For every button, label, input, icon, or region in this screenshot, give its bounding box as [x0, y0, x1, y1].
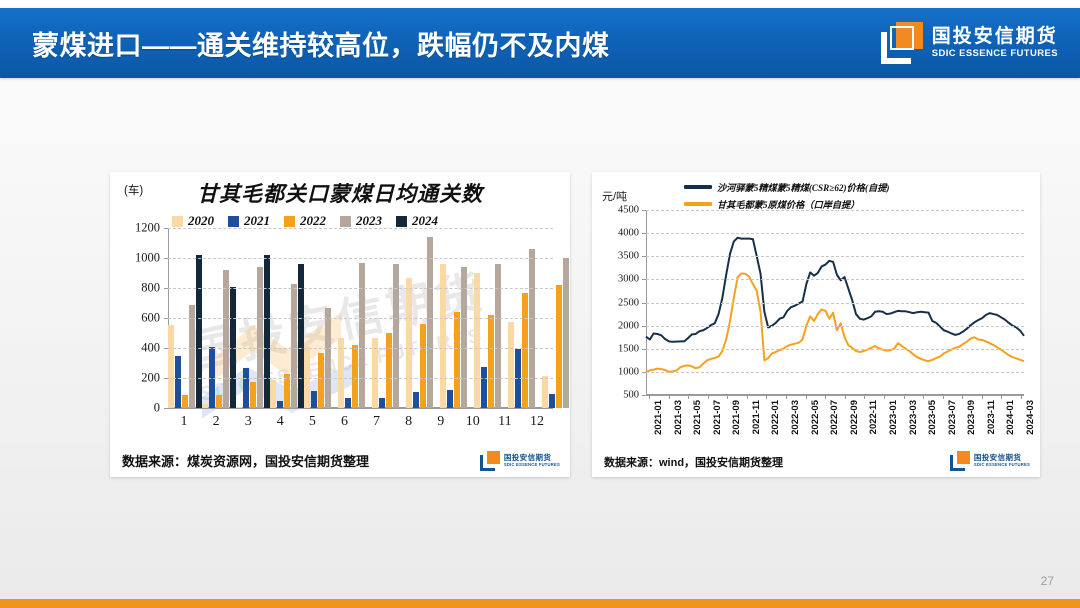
gridline [168, 288, 553, 289]
slide-header: 蒙煤进口——通关维持较高位，跌幅仍不及内煤 国投安信期货 SDIC ESSENC… [0, 8, 1080, 78]
legend-swatch-icon [284, 216, 295, 227]
x-axis-tick: 2022-11 [868, 400, 879, 434]
legend-swatch-icon [172, 216, 183, 227]
page-title: 蒙煤进口——通关维持较高位，跌幅仍不及内煤 [32, 24, 610, 63]
mini-logo-en: SDIC ESSENCE FUTURES [504, 463, 560, 467]
legend-item-2021[interactable]: 2021 [228, 213, 270, 229]
gridline [168, 258, 553, 259]
bar-2021-9 [447, 390, 453, 408]
bar-2022-9 [454, 312, 460, 408]
bar-2022-11 [522, 293, 528, 408]
legend-swatch-icon [228, 216, 239, 227]
legend-label: 2020 [188, 213, 214, 229]
y-axis-tickmark [642, 210, 646, 211]
x-axis-tick: 2024-03 [1025, 400, 1036, 435]
bar-2020-12 [542, 376, 548, 408]
bar-2023-1 [189, 305, 195, 409]
y-axis-tick: 1000 [135, 251, 160, 266]
legend-label: 2024 [412, 213, 438, 229]
y-axis-tickmark [642, 279, 646, 280]
x-axis-tickmark [982, 395, 983, 399]
logo-text-cn: 国投安信期货 [932, 27, 1058, 46]
x-axis-tickmark [649, 395, 650, 399]
y-axis-tickmark [642, 395, 646, 396]
gridline [646, 256, 1024, 257]
legend-item-2020[interactable]: 2020 [172, 213, 214, 229]
gridline [168, 228, 553, 229]
legend-label: 2022 [300, 213, 326, 229]
bar-2020-10 [474, 273, 480, 408]
x-axis-tick: 2023-07 [947, 400, 958, 435]
mini-logo-cn: 国投安信期货 [504, 454, 560, 462]
y-axis-tickmark [642, 326, 646, 327]
x-axis-tickmark [923, 395, 924, 399]
company-logo: 国投安信期货 SDIC ESSENCE FUTURES [881, 22, 1058, 64]
x-axis-tickmark [943, 395, 944, 399]
bar-2021-12 [549, 394, 555, 408]
x-axis-tickmark [727, 395, 728, 399]
legend-label: 甘其毛都蒙5原煤价格（口岸自提） [717, 197, 859, 211]
x-axis-tick: 2021-05 [692, 400, 703, 435]
y-axis-tickmark [164, 378, 168, 379]
x-axis-tickmark [708, 395, 709, 399]
bar-2020-11 [508, 322, 514, 408]
left-chart-legend: 20202021202220232024 [172, 213, 438, 229]
bar-2023-4 [291, 284, 297, 409]
y-axis-tick: 1000 [618, 366, 639, 377]
y-axis-tickmark [164, 318, 168, 319]
bar-2022-12 [556, 285, 562, 408]
legend-item-甘其毛都蒙5原煤价格（口岸自提）[interactable]: 甘其毛都蒙5原煤价格（口岸自提） [684, 197, 859, 211]
x-axis-tick: 2023-01 [888, 400, 899, 435]
legend-item-2022[interactable]: 2022 [284, 213, 326, 229]
y-axis-tickmark [164, 258, 168, 259]
y-axis-tick: 4500 [618, 205, 639, 216]
x-axis-tickmark [825, 395, 826, 399]
y-axis-tickmark [164, 288, 168, 289]
right-chart-logo: 国投安信期货 SDIC ESSENCE FUTURES [950, 451, 1030, 471]
x-axis-tick: 8 [405, 414, 412, 430]
y-axis-tickmark [642, 349, 646, 350]
x-axis-tick: 1 [181, 414, 188, 430]
x-axis-tick: 11 [498, 414, 511, 430]
bar-2020-8 [406, 278, 412, 409]
y-axis-tick: 1200 [135, 221, 160, 236]
x-axis-tick: 12 [530, 414, 544, 430]
slide-background: 蒙煤进口——通关维持较高位，跌幅仍不及内煤 国投安信期货 SDIC ESSENC… [0, 0, 1080, 608]
bar-2021-4 [277, 401, 283, 408]
y-axis-tick: 200 [141, 371, 160, 386]
bar-2020-1 [168, 325, 174, 408]
x-axis-tick: 4 [277, 414, 284, 430]
right-chart-legend: 沙河驿蒙5精煤蒙5精煤(CSR≥62)价格(自提)甘其毛都蒙5原煤价格（口岸自提… [684, 180, 889, 211]
bar-2021-5 [311, 391, 317, 408]
left-chart-title: 甘其毛都关口蒙煤日均通关数 [110, 178, 570, 208]
y-axis-tick: 4000 [618, 228, 639, 239]
x-axis-tick: 2021-09 [731, 400, 742, 435]
y-axis-tick: 1500 [618, 343, 639, 354]
gridline [646, 303, 1024, 304]
bar-2023-10 [495, 264, 501, 408]
y-axis-tickmark [164, 228, 168, 229]
x-axis-tick: 7 [373, 414, 380, 430]
bar-2022-10 [488, 315, 494, 408]
x-axis-tick: 2022-05 [810, 400, 821, 435]
bar-2023-2 [223, 270, 229, 408]
y-axis-tickmark [642, 303, 646, 304]
x-axis-tick: 2022-07 [829, 400, 840, 435]
bar-2021-7 [379, 398, 385, 409]
legend-label: 沙河驿蒙5精煤蒙5精煤(CSR≥62)价格(自提) [717, 180, 889, 194]
x-axis-tick: 2022-03 [790, 400, 801, 435]
x-axis-tick: 3 [245, 414, 252, 430]
bar-2023-8 [427, 237, 433, 408]
bar-2020-5 [304, 346, 310, 408]
bar-2023-12 [563, 258, 569, 408]
logo-text-en: SDIC ESSENCE FUTURES [932, 49, 1058, 59]
x-axis-tickmark [904, 395, 905, 399]
right-chart-source: 数据来源：wind，国投安信期货整理 [604, 454, 783, 470]
chart-panel-right: 元/吨 沙河驿蒙5精煤蒙5精煤(CSR≥62)价格(自提)甘其毛都蒙5原煤价格（… [592, 172, 1040, 477]
x-axis-tickmark [962, 395, 963, 399]
gridline [646, 372, 1024, 373]
legend-line-icon [684, 202, 712, 206]
x-axis-tick: 2021-11 [751, 400, 762, 434]
y-axis-tick: 3500 [618, 251, 639, 262]
bar-2021-6 [345, 398, 351, 408]
bar-2022-6 [352, 345, 358, 408]
bar-2023-6 [359, 263, 365, 409]
legend-label: 2023 [356, 213, 382, 229]
x-axis-tick: 2023-11 [986, 400, 997, 434]
y-axis-tick: 2000 [618, 320, 639, 331]
mini-logo-icon [480, 451, 500, 471]
x-axis-tick: 2021-01 [653, 400, 664, 435]
legend-swatch-icon [340, 216, 351, 227]
bar-2021-1 [175, 356, 181, 408]
y-axis-tick: 800 [141, 281, 160, 296]
y-axis-tickmark [164, 408, 168, 409]
x-axis-tickmark [786, 395, 787, 399]
x-axis-tickmark [806, 395, 807, 399]
bar-2020-9 [440, 264, 446, 408]
x-axis-tick: 2 [213, 414, 220, 430]
legend-item-2023[interactable]: 2023 [340, 213, 382, 229]
bar-2021-3 [243, 368, 249, 408]
footer-accent-bar [0, 599, 1080, 608]
y-axis-tick: 500 [623, 390, 639, 401]
gridline [646, 326, 1024, 327]
x-axis-tick: 2023-09 [966, 400, 977, 435]
chart-panel-left: (车) 甘其毛都关口蒙煤日均通关数 20202021202220232024 国… [110, 172, 570, 477]
x-axis-tick: 2022-09 [849, 400, 860, 435]
y-axis-tickmark [642, 233, 646, 234]
bar-2022-7 [386, 333, 392, 408]
x-axis-tick: 2023-03 [908, 400, 919, 435]
x-axis-tick: 2021-07 [712, 400, 723, 435]
gridline [168, 348, 553, 349]
x-axis-tickmark [1021, 395, 1022, 399]
bar-2022-2 [216, 395, 222, 409]
gridline [168, 318, 553, 319]
gridline [646, 349, 1024, 350]
mini-logo-cn: 国投安信期货 [974, 454, 1030, 462]
y-axis-tick: 2500 [618, 297, 639, 308]
x-axis-tick: 5 [309, 414, 316, 430]
x-axis-tick: 9 [437, 414, 444, 430]
bar-2022-1 [182, 395, 188, 408]
x-axis-tickmark [688, 395, 689, 399]
right-chart-unit: 元/吨 [602, 188, 627, 204]
x-axis-tick: 2021-03 [673, 400, 684, 435]
mini-logo-icon [950, 451, 970, 471]
left-chart-logo: 国投安信期货 SDIC ESSENCE FUTURES [480, 451, 560, 471]
bar-2020-4 [270, 380, 276, 409]
gridline [646, 233, 1024, 234]
x-axis-tickmark [747, 395, 748, 399]
legend-swatch-icon [396, 216, 407, 227]
gridline [646, 279, 1024, 280]
x-axis-tickmark [1001, 395, 1002, 399]
mini-logo-en: SDIC ESSENCE FUTURES [974, 463, 1030, 467]
bar-2023-7 [393, 264, 399, 408]
bar-2021-8 [413, 392, 419, 409]
page-number: 27 [1041, 574, 1054, 588]
bar-2023-11 [529, 249, 535, 408]
x-axis-tickmark [845, 395, 846, 399]
y-axis-tickmark [642, 256, 646, 257]
line-series-甘其毛都蒙5原煤价格（口岸自提） [646, 273, 1024, 372]
x-axis-tick: 2024-01 [1005, 400, 1016, 435]
gridline [646, 210, 1024, 211]
y-axis-tick: 600 [141, 311, 160, 326]
y-axis-tickmark [164, 348, 168, 349]
bar-2020-3 [236, 407, 242, 409]
x-axis-tickmark [766, 395, 767, 399]
bar-2021-10 [481, 367, 487, 408]
x-axis-tick: 2023-05 [927, 400, 938, 435]
x-axis-tick: 10 [466, 414, 480, 430]
left-chart-source: 数据来源：煤炭资源网，国投安信期货整理 [122, 451, 369, 470]
x-axis-tick: 2022-01 [770, 400, 781, 435]
legend-line-icon [684, 185, 712, 189]
gridline [168, 378, 553, 379]
x-axis-tickmark [884, 395, 885, 399]
x-axis-tickmark [864, 395, 865, 399]
y-axis-tick: 400 [141, 341, 160, 356]
bar-2022-5 [318, 353, 324, 409]
left-chart-plot: 020040060080010001200123456789101112 [168, 228, 553, 408]
logo-mark-icon [881, 22, 923, 64]
bar-2023-5 [325, 308, 331, 408]
x-axis-tick: 6 [341, 414, 348, 430]
legend-item-沙河驿蒙5精煤蒙5精煤(CSR≥62)价格(自提)[interactable]: 沙河驿蒙5精煤蒙5精煤(CSR≥62)价格(自提) [684, 180, 889, 194]
bar-2022-8 [420, 324, 426, 408]
y-axis-tick: 0 [154, 401, 160, 416]
bar-2022-3 [250, 382, 256, 408]
legend-label: 2021 [244, 213, 270, 229]
legend-item-2024[interactable]: 2024 [396, 213, 438, 229]
y-axis-tick: 3000 [618, 274, 639, 285]
x-axis-tickmark [669, 395, 670, 399]
y-axis-tickmark [642, 372, 646, 373]
bar-2020-2 [202, 404, 208, 408]
right-chart-plot: 500100015002000250030003500400045002021-… [646, 210, 1024, 395]
